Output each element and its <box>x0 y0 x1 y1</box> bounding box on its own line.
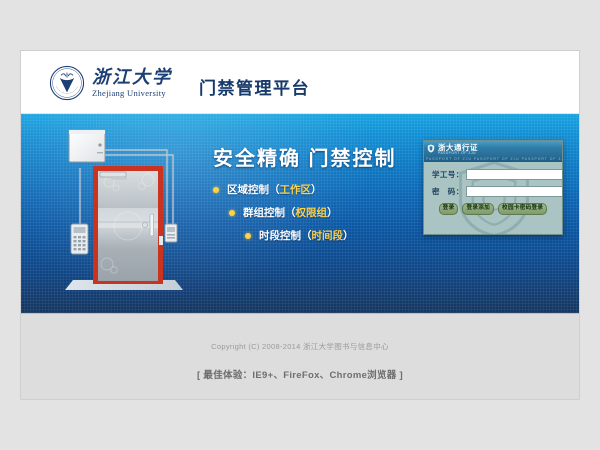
university-logo[interactable]: 浙江大学 Zhejiang University <box>49 65 172 101</box>
site-header: 浙江大学 Zhejiang University 门禁管理平台 <box>21 51 579 114</box>
page-card: 浙江大学 Zhejiang University 门禁管理平台 <box>20 50 580 400</box>
door-access-control-illustration <box>49 122 199 310</box>
login-add-button[interactable]: 登录添加 <box>462 203 494 215</box>
login-panel-titlebar: 浙大通行证 PASSPORT OF ZJU <box>424 141 562 155</box>
footer-browser-note: [ 最佳体验：IE9+、FireFox、Chrome浏览器 ] <box>21 367 579 381</box>
bullet-dot-icon <box>245 233 251 239</box>
login-field-row: 学工号： <box>432 169 554 180</box>
login-panel-subtitle: PASSPORT OF ZJU <box>438 151 476 155</box>
bullet-text-after: ） <box>311 182 322 197</box>
bullet-dot-icon <box>229 210 235 216</box>
site-footer: Copyright (C) 2008-2014 浙江大学图书与信息中心 [ 最佳… <box>21 313 579 400</box>
hero-banner: 安全精确 门禁控制 区域控制（ 工作区 ） 群组控制（ 权限组 ） 时段控制（ … <box>21 114 579 313</box>
username-input[interactable] <box>466 169 563 180</box>
bullet-text-after: ） <box>343 228 354 243</box>
bullet-dot-icon <box>213 187 219 193</box>
hero-feature-list: 区域控制（ 工作区 ） 群组控制（ 权限组 ） 时段控制（ 时间段 ） <box>213 182 443 251</box>
login-button[interactable]: 登录 <box>439 203 459 215</box>
logo-wordmark: 浙江大学 Zhejiang University <box>92 68 172 98</box>
logo-text-en: Zhejiang University <box>92 89 172 98</box>
hero-bullet-item: 群组控制（ 权限组 ） <box>229 205 443 220</box>
hero-bullet-item: 时段控制（ 时间段 ） <box>245 228 443 243</box>
zju-seal-icon <box>49 65 85 101</box>
campus-card-login-button[interactable]: 校园卡密码登录 <box>498 203 547 215</box>
password-input[interactable] <box>466 186 563 197</box>
footer-copyright: Copyright (C) 2008-2014 浙江大学图书与信息中心 <box>21 341 579 352</box>
bullet-highlight: 权限组 <box>296 205 328 220</box>
login-form: 学工号： 密 码： 登录 登录添加 校园卡密码登录 <box>424 162 562 215</box>
login-field-row: 密 码： <box>432 186 554 197</box>
bullet-text-after: ） <box>327 205 338 220</box>
bullet-text-before: 区域控制（ <box>227 182 280 197</box>
bullet-highlight: 工作区 <box>280 182 312 197</box>
password-label: 密 码： <box>432 186 466 197</box>
login-panel-strip: PASSPORT OF ZJU PASSPORT OF ZJU PASSPORT… <box>424 155 562 162</box>
hero-bullet-item: 区域控制（ 工作区 ） <box>213 182 443 197</box>
shield-icon <box>427 144 435 153</box>
bullet-text-before: 群组控制（ <box>243 205 296 220</box>
hero-headline: 安全精确 门禁控制 <box>213 142 397 171</box>
bullet-text-before: 时段控制（ <box>259 228 312 243</box>
page-title: 门禁管理平台 <box>199 74 310 99</box>
bullet-highlight: 时间段 <box>312 228 344 243</box>
username-label: 学工号： <box>432 169 466 180</box>
login-panel: 浙大通行证 PASSPORT OF ZJU PASSPORT OF ZJU PA… <box>423 140 563 235</box>
logo-text-cn: 浙江大学 <box>92 68 172 86</box>
login-button-group: 登录 登录添加 校园卡密码登录 <box>432 203 554 215</box>
